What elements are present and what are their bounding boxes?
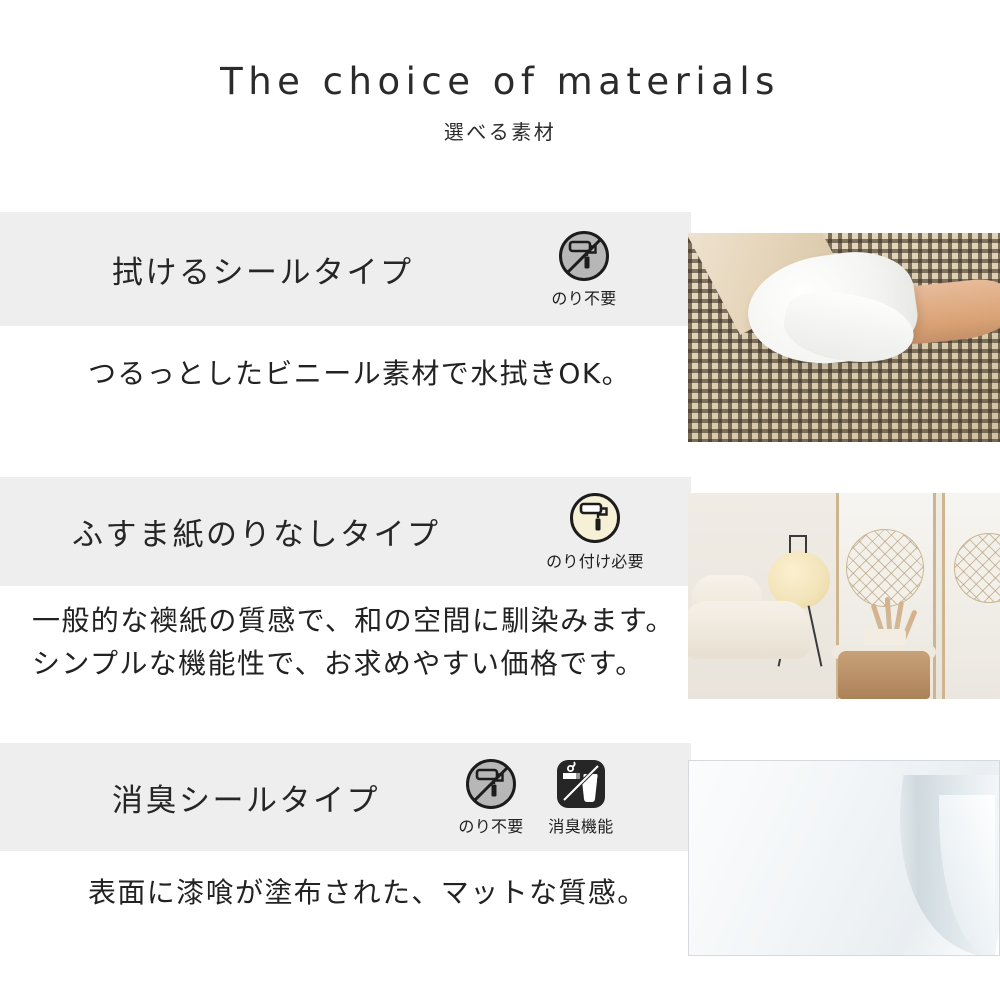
section-title-band: ふすま紙のりなしタイプ のり付け必要 (0, 477, 691, 586)
material-section-wipeable: 拭けるシールタイプ (0, 212, 1000, 442)
section-title: 消臭シールタイプ (112, 775, 380, 820)
japanese-interior-fusuma-photo (688, 493, 1000, 699)
glue-required-roller-icon (535, 492, 655, 545)
badge-label: 消臭機能 (543, 813, 619, 837)
section-badges: のり付け必要 (535, 492, 655, 572)
page-header: The choice of materials 選べる素材 (0, 0, 1000, 145)
no-glue-roller-icon (453, 757, 529, 810)
section-description: 一般的な襖紙の質感で、和の空間に馴染みます。 シンプルな機能性で、お求めやすい価… (32, 599, 675, 686)
material-section-deodorizing: 消臭シールタイプ (0, 743, 1000, 965)
section-badges: のり不要 (453, 757, 619, 837)
no-glue-roller-icon (546, 229, 622, 282)
page-root: The choice of materials 選べる素材 拭けるシールタイプ (0, 0, 1000, 1000)
section-title-band: 消臭シールタイプ (0, 743, 691, 851)
section-title-band: 拭けるシールタイプ (0, 212, 691, 326)
badge-no-glue: のり不要 (546, 229, 622, 309)
section-title: 拭けるシールタイプ (112, 247, 414, 292)
badge-deodorizing: 消臭機能 (543, 757, 619, 837)
section-description: 表面に漆喰が塗布された、マットな質感。 (88, 871, 647, 914)
section-badges: のり不要 (546, 229, 622, 309)
material-section-fusuma-no-glue: ふすま紙のりなしタイプ のり付け必要 (0, 477, 1000, 695)
page-subtitle: 選べる素材 (0, 116, 1000, 145)
page-title: The choice of materials (0, 62, 1000, 103)
badge-glue-required: のり付け必要 (535, 492, 655, 572)
section-title: ふすま紙のりなしタイプ (72, 509, 441, 554)
white-curling-sheet-photo (688, 760, 1000, 956)
badge-label: のり不要 (546, 285, 622, 309)
section-description: つるっとしたビニール素材で水拭きOK。 (88, 352, 631, 395)
badge-label: のり付け必要 (535, 548, 655, 572)
hand-wiping-rattan-surface-photo (688, 233, 1000, 442)
badge-label: のり不要 (453, 813, 529, 837)
badge-no-glue: のり不要 (453, 757, 529, 837)
deodorizing-function-icon (543, 757, 619, 810)
